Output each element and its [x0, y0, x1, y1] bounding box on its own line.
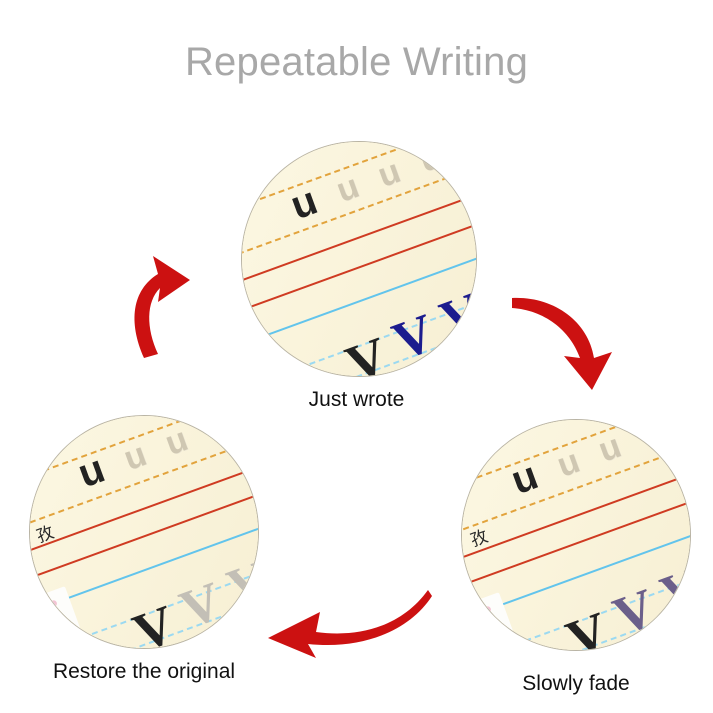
sticker-flowers-icon [40, 600, 62, 620]
step-caption-slowly-fade: Slowly fade [462, 672, 690, 696]
page-title: Repeatable Writing [0, 40, 713, 85]
arrow-wrote-to-fade [508, 282, 628, 392]
step-caption-restore-the-original: Restore the original [30, 660, 258, 684]
step-image-slowly-fade: u u u u u V V V V V V 孜 [462, 420, 690, 650]
step-image-just-wrote: u u u u u V V V V [242, 142, 476, 376]
arrow-restore-to-wrote [120, 250, 240, 360]
arrow-fade-to-restore [256, 582, 436, 662]
sticker-flowers-icon [474, 606, 496, 626]
infographic-canvas: Repeatable Writing u u u u u [0, 0, 713, 713]
step-image-restore-the-original: u u u u u V V V V 孜 [30, 416, 258, 648]
